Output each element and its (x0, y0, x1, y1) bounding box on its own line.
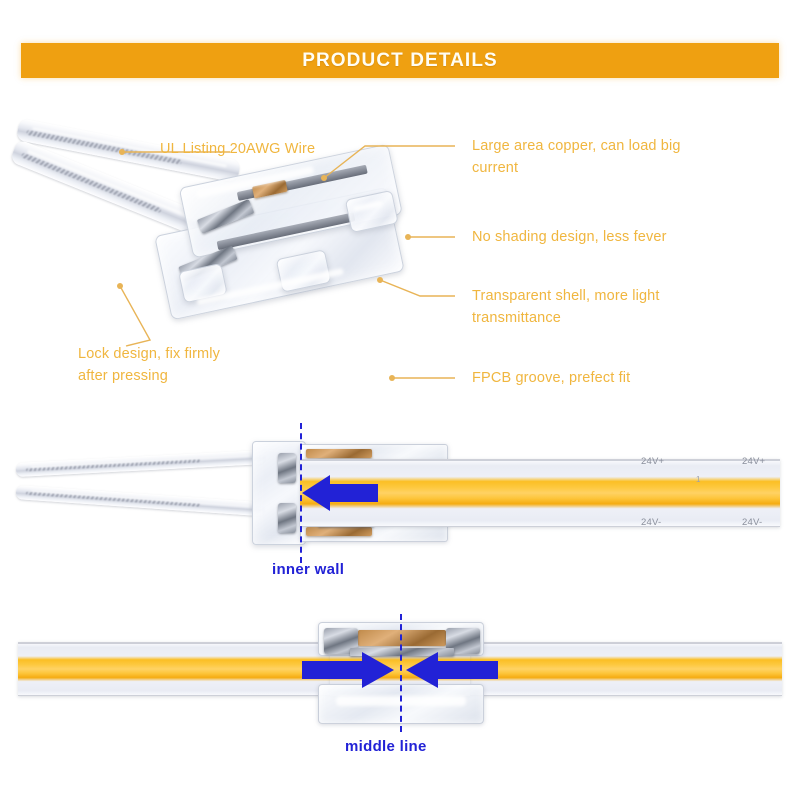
panel-product-detail: UL Listing 20AWG Wire Large area copper,… (0, 90, 800, 400)
banner-title: PRODUCT DETAILS (302, 50, 498, 72)
callout-ul-listing: UL Listing 20AWG Wire (160, 138, 315, 160)
middle-line-copper-bar (358, 630, 446, 646)
inner-wall-arrow-left (300, 473, 380, 513)
inner-wall-annotation-label: inner wall (272, 561, 344, 578)
inner-wall-contact-upper (278, 453, 296, 483)
callout-transparent-shell: Transparent shell, more light transmitta… (472, 285, 752, 329)
panel-middle-line: middle line (0, 600, 800, 780)
strip-cut-mark: 1 (696, 475, 700, 484)
inner-wall-copper-upper (306, 449, 372, 458)
strip-label-24v-minus-left: 24V- (641, 517, 661, 528)
product-details-image: PRODUCT DETAILS (0, 0, 800, 800)
inner-wall-copper-lower (306, 527, 372, 536)
strip-label-24v-minus-right: 24V- (742, 517, 762, 528)
inner-wall-wire-upper (16, 450, 266, 477)
middle-line-arrow-right (300, 650, 396, 690)
inner-wall-wire-lower (16, 485, 266, 516)
cob-strip-left (18, 642, 348, 696)
callout-no-shading: No shading design, less fever (472, 226, 752, 248)
inner-wall-contact-lower (278, 503, 296, 533)
callout-fpcb-groove: FPCB groove, prefect fit (472, 367, 752, 389)
callout-lock-design: Lock design, fix firmly after pressing (78, 343, 338, 387)
callout-large-area-copper: Large area copper, can load big current (472, 135, 752, 179)
strip-label-24v-plus-right: 24V+ (742, 456, 765, 467)
product-details-banner: PRODUCT DETAILS (21, 43, 779, 78)
middle-line-arrow-left (404, 650, 500, 690)
middle-line-annotation-label: middle line (345, 738, 427, 755)
middle-line-dashed-line (400, 614, 402, 732)
cob-strip-right (452, 642, 782, 696)
panel-inner-wall: A2 24V+ 24V+ 24V- 24V- 1 inner wall (0, 415, 800, 585)
strip-label-24v-plus-left: 24V+ (641, 456, 664, 467)
